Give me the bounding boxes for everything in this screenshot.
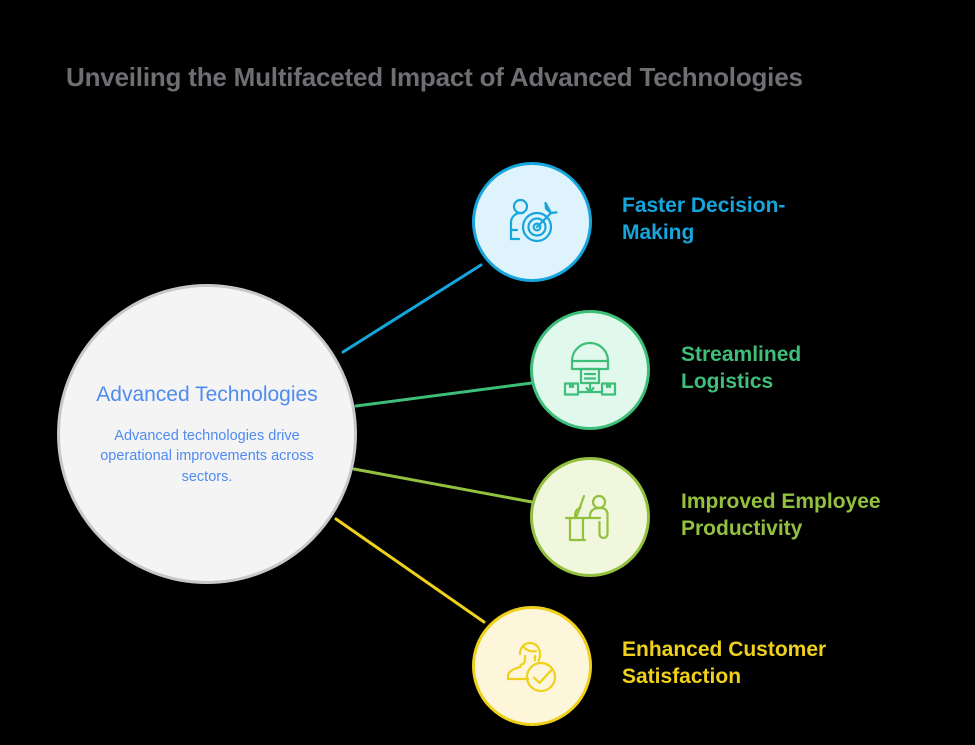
desk-worker-icon [561,488,619,546]
branch-label-faster-decision-making: Faster Decision- Making [622,193,785,247]
hub-description: Advanced technologies drive operational … [86,426,328,488]
branch-node-streamlined-logistics[interactable] [530,310,650,430]
warehouse-boxes-icon [561,341,619,399]
branch-node-improved-employee-productivity[interactable] [530,457,650,577]
customer-check-icon [503,637,561,695]
branch-label-enhanced-customer-satisfaction: Enhanced Customer Satisfaction [622,637,826,691]
connector-enhanced-customer-satisfaction [336,519,484,622]
connector-streamlined-logistics [356,383,532,406]
connector-improved-employee-productivity [354,469,532,502]
diagram-canvas: Unveiling the Multifaceted Impact of Adv… [0,0,975,745]
hub-node[interactable]: Advanced Technologies Advanced technolog… [57,284,357,584]
target-person-icon [503,193,561,251]
branch-node-faster-decision-making[interactable] [472,162,592,282]
branch-label-streamlined-logistics: Streamlined Logistics [681,342,801,396]
branch-label-improved-employee-productivity: Improved Employee Productivity [681,489,881,543]
page-title: Unveiling the Multifaceted Impact of Adv… [66,62,926,93]
branch-node-enhanced-customer-satisfaction[interactable] [472,606,592,726]
hub-title: Advanced Technologies [96,381,317,410]
connector-faster-decision-making [343,265,481,352]
